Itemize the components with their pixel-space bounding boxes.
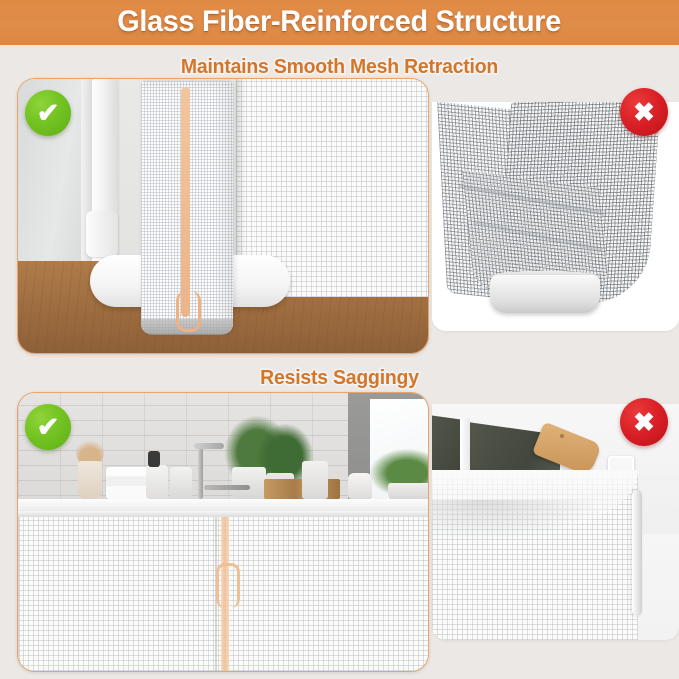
pull-tab-loop [176,291,201,332]
section-1-check-badge: ✔ [25,90,71,136]
taut-screen-kitchen-scene [18,393,428,671]
section-2-good-image [17,392,429,672]
pull-strip-loop [216,563,240,608]
product-feature-graphic: Glass Fiber-Reinforced Structure Maintai… [0,0,679,679]
hook-screw [560,434,564,438]
kitchen-canister [302,461,328,499]
screen-left-edge [18,517,20,671]
dark-appliance [148,451,160,467]
mesh-roll-scene [18,79,428,353]
header-banner: Glass Fiber-Reinforced Structure [0,0,679,45]
page-title: Glass Fiber-Reinforced Structure [118,5,562,39]
section-2-check-badge: ✔ [25,404,71,450]
mounting-clip [86,211,118,257]
section-1-bad-image [432,102,679,331]
sag-gap-shadow [432,500,602,540]
orange-pull-tab [181,87,190,317]
kitchen-background [18,393,428,511]
faucet-stem [198,447,203,499]
screen-side-rail [632,490,642,616]
section-1-good-image [17,78,429,354]
utensil-holder [170,467,192,499]
faucet-spout [194,443,224,449]
counter-edge-detail [204,485,250,490]
section-2-subtitle: Resists Saggingy [10,367,669,390]
base-unit [490,275,600,313]
table-lamp [348,473,372,499]
check-mark-icon: ✔ [37,100,60,127]
section-1-subtitle: Maintains Smooth Mesh Retraction [10,56,669,79]
check-mark-icon: ✔ [37,414,60,441]
section-2-x-badge: ✖ [620,398,668,446]
plant-pot-1 [232,467,266,499]
x-mark-icon: ✖ [633,99,655,125]
x-mark-icon: ✖ [633,409,655,435]
section-1-x-badge: ✖ [620,88,668,136]
vase [78,461,102,499]
wrinkled-mesh-scene [432,102,679,331]
window-frame [81,79,92,289]
ceramic-jar [146,465,168,499]
